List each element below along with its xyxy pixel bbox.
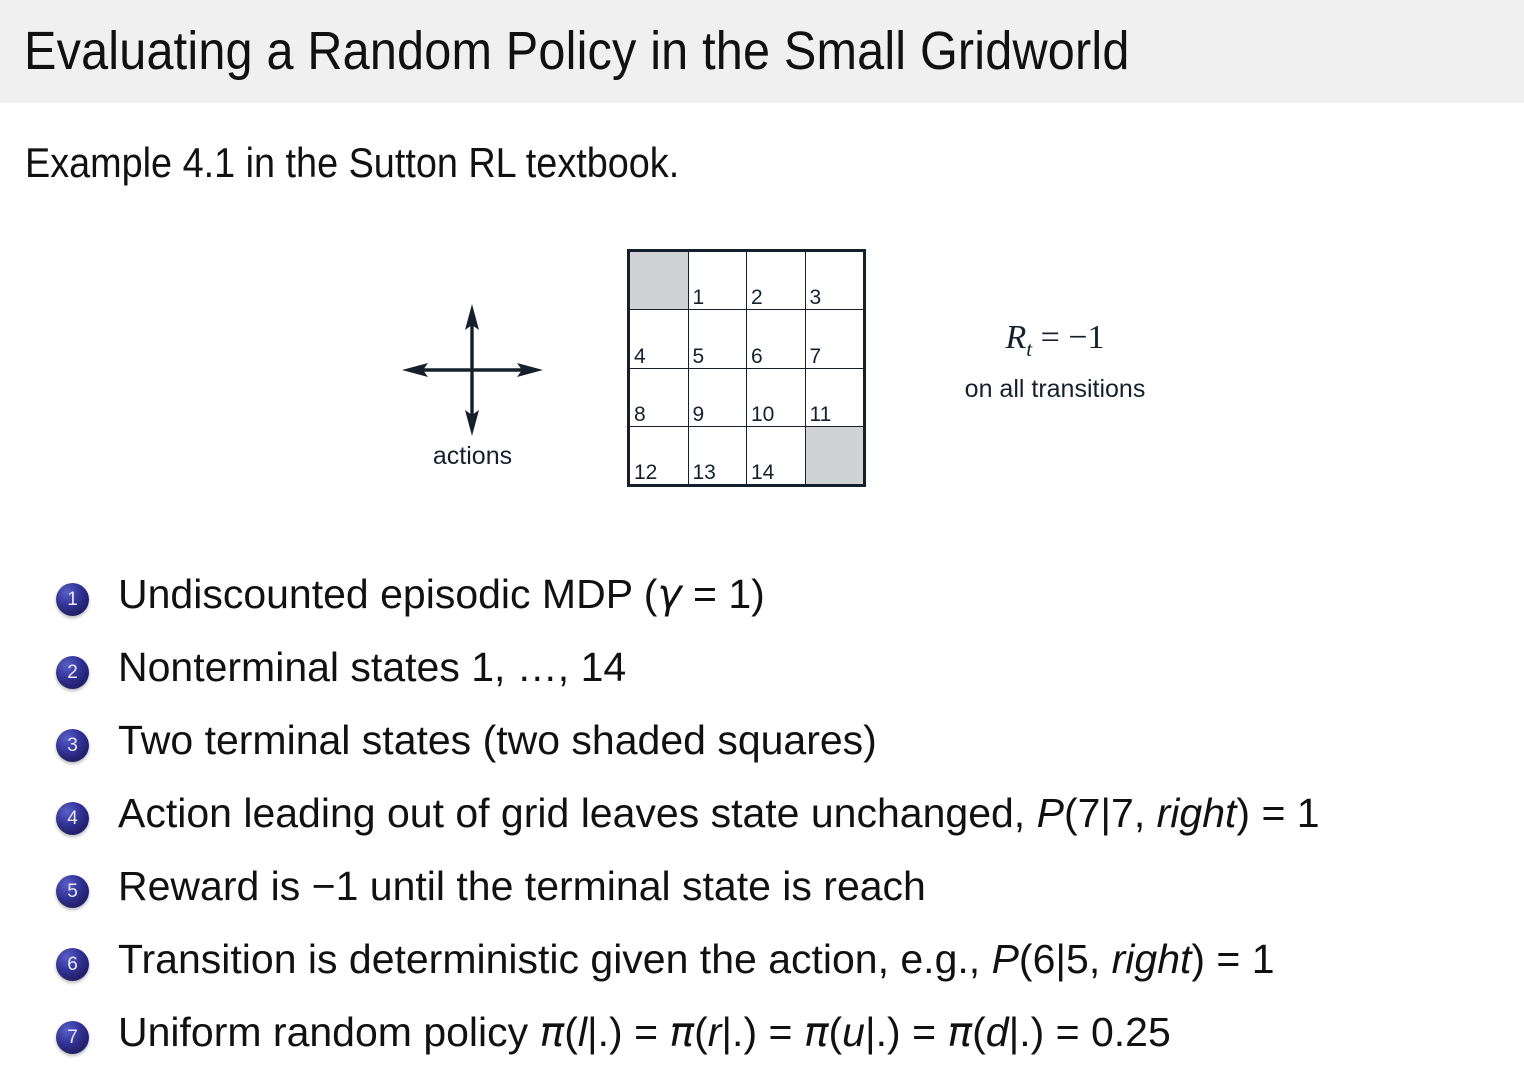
cell-label: 3 <box>810 287 822 308</box>
grid-cell: 4 <box>630 310 689 368</box>
prob-symbol: P <box>1037 790 1064 836</box>
grid-row: 4 5 6 7 <box>630 310 864 368</box>
list-item: 5 Reward is −1 until the terminal state … <box>0 857 1524 930</box>
list-item: 1 Undiscounted episodic MDP (γ = 1) <box>0 565 1524 638</box>
list-item: 4 Action leading out of grid leaves stat… <box>0 784 1524 857</box>
text-run: Uniform random policy <box>118 1009 540 1055</box>
grid-cell: 12 <box>630 426 689 484</box>
list-item: 7 Uniform random policy π(l|.) = π(r|.) … <box>0 1003 1524 1076</box>
grid-cell: 2 <box>747 252 806 310</box>
intro-text: Example 4.1 in the Sutton RL textbook. <box>25 136 679 190</box>
text-run: |.) = <box>865 1009 947 1055</box>
cell-label: 13 <box>693 462 716 483</box>
text-run: ( <box>972 1009 986 1055</box>
cell-label: 8 <box>634 404 646 425</box>
cell-label: 9 <box>693 404 705 425</box>
enumerated-list: 1 Undiscounted episodic MDP (γ = 1) 2 No… <box>0 565 1524 1076</box>
action-up-symbol: u <box>842 1009 865 1055</box>
list-item-text: Reward is −1 until the terminal state is… <box>118 863 926 909</box>
grid-cell: 3 <box>805 252 864 310</box>
action-down-symbol: d <box>986 1009 1009 1055</box>
text-run: Nonterminal states <box>118 644 471 690</box>
list-marker-2: 2 <box>56 656 89 689</box>
gridworld-figure: actions 1 2 3 4 5 6 7 8 9 <box>0 240 1524 510</box>
grid-cell: 1 <box>688 252 747 310</box>
pi-symbol: π <box>947 1008 972 1056</box>
reward-note: Rt = −1 on all transitions <box>930 318 1180 405</box>
list-item: 6 Transition is deterministic given the … <box>0 930 1524 1003</box>
grid-row: 12 13 14 <box>630 426 864 484</box>
grid-cell: 6 <box>747 310 806 368</box>
grid-cell-terminal-bottom <box>805 426 864 484</box>
action-symbol: right <box>1112 936 1192 982</box>
cell-label: 12 <box>634 462 657 483</box>
cell-label: 11 <box>810 404 832 425</box>
page-title: Evaluating a Random Policy in the Small … <box>24 16 1130 86</box>
cell-label: 10 <box>751 404 774 425</box>
list-item-text: Transition is deterministic given the ac… <box>118 936 1275 982</box>
prob-symbol: P <box>992 936 1019 982</box>
list-marker-1: 1 <box>56 583 89 616</box>
cell-label: 4 <box>634 346 646 367</box>
list-item-text: Action leading out of grid leaves state … <box>118 790 1320 836</box>
list-item: 2 Nonterminal states 1, …, 14 <box>0 638 1524 711</box>
grid-cell: 14 <box>747 426 806 484</box>
reward-formula: Rt = −1 <box>930 318 1180 369</box>
text-run: (6|5, <box>1019 936 1112 982</box>
text-run: ) = 1 <box>1191 936 1274 982</box>
text-run: ( <box>694 1009 708 1055</box>
reward-value: = −1 <box>1032 319 1104 356</box>
pi-symbol: π <box>540 1008 565 1056</box>
actions-diagram: actions <box>400 300 545 480</box>
text-run: ( <box>564 1009 578 1055</box>
list-item: 3 Two terminal states (two shaded square… <box>0 711 1524 784</box>
gamma-symbol: γ <box>657 570 681 618</box>
text-run: Undiscounted episodic MDP ( <box>118 571 657 617</box>
grid-cell: 13 <box>688 426 747 484</box>
reward-var: R <box>1006 319 1027 356</box>
grid-cell: 9 <box>688 368 747 426</box>
gridworld-grid: 1 2 3 4 5 6 7 8 9 10 11 12 <box>627 249 866 487</box>
cell-label: 1 <box>693 287 705 308</box>
cell-label: 6 <box>751 346 763 367</box>
list-marker-6: 6 <box>56 948 89 981</box>
text-run: = 1) <box>682 571 765 617</box>
text-run: ) = 1 <box>1236 790 1319 836</box>
grid-table: 1 2 3 4 5 6 7 8 9 10 11 12 <box>629 251 864 485</box>
grid-cell: 10 <box>747 368 806 426</box>
grid-cell: 11 <box>805 368 864 426</box>
grid-cell: 7 <box>805 310 864 368</box>
action-symbol: right <box>1157 790 1237 836</box>
slide-header-band: Evaluating a Random Policy in the Small … <box>0 0 1524 103</box>
cell-label: 14 <box>751 462 774 483</box>
cell-label: 7 <box>810 346 822 367</box>
grid-cell-terminal-top <box>630 252 689 310</box>
text-run: Action leading out of grid leaves state … <box>118 790 1037 836</box>
grid-cell: 8 <box>630 368 689 426</box>
text-run: |.) = <box>721 1009 803 1055</box>
action-left-symbol: l <box>578 1009 587 1055</box>
list-item-text: Uniform random policy π(l|.) = π(r|.) = … <box>118 1009 1171 1055</box>
list-marker-7: 7 <box>56 1021 89 1054</box>
text-run: Transition is deterministic given the ac… <box>118 936 992 982</box>
text-run: ( <box>829 1009 843 1055</box>
text-run: |.) = <box>587 1009 669 1055</box>
actions-label: actions <box>400 442 545 471</box>
list-marker-5: 5 <box>56 875 89 908</box>
text-run: |.) = 0.25 <box>1009 1009 1171 1055</box>
text-run: (7|7, <box>1064 790 1157 836</box>
list-marker-4: 4 <box>56 802 89 835</box>
list-item-text: Nonterminal states 1, …, 14 <box>118 644 626 690</box>
grid-row: 8 9 10 11 <box>630 368 864 426</box>
list-marker-3: 3 <box>56 729 89 762</box>
grid-cell: 5 <box>688 310 747 368</box>
pi-symbol: π <box>669 1008 694 1056</box>
list-item-text: Two terminal states (two shaded squares) <box>118 717 877 763</box>
text-run: 1, …, 14 <box>471 644 626 690</box>
action-right-symbol: r <box>708 1009 722 1055</box>
reward-caption: on all transitions <box>930 373 1180 405</box>
pi-symbol: π <box>804 1008 829 1056</box>
grid-row: 1 2 3 <box>630 252 864 310</box>
list-item-text: Undiscounted episodic MDP (γ = 1) <box>118 571 765 617</box>
four-way-arrow-icon <box>400 300 545 440</box>
cell-label: 5 <box>693 346 705 367</box>
cell-label: 2 <box>751 287 763 308</box>
